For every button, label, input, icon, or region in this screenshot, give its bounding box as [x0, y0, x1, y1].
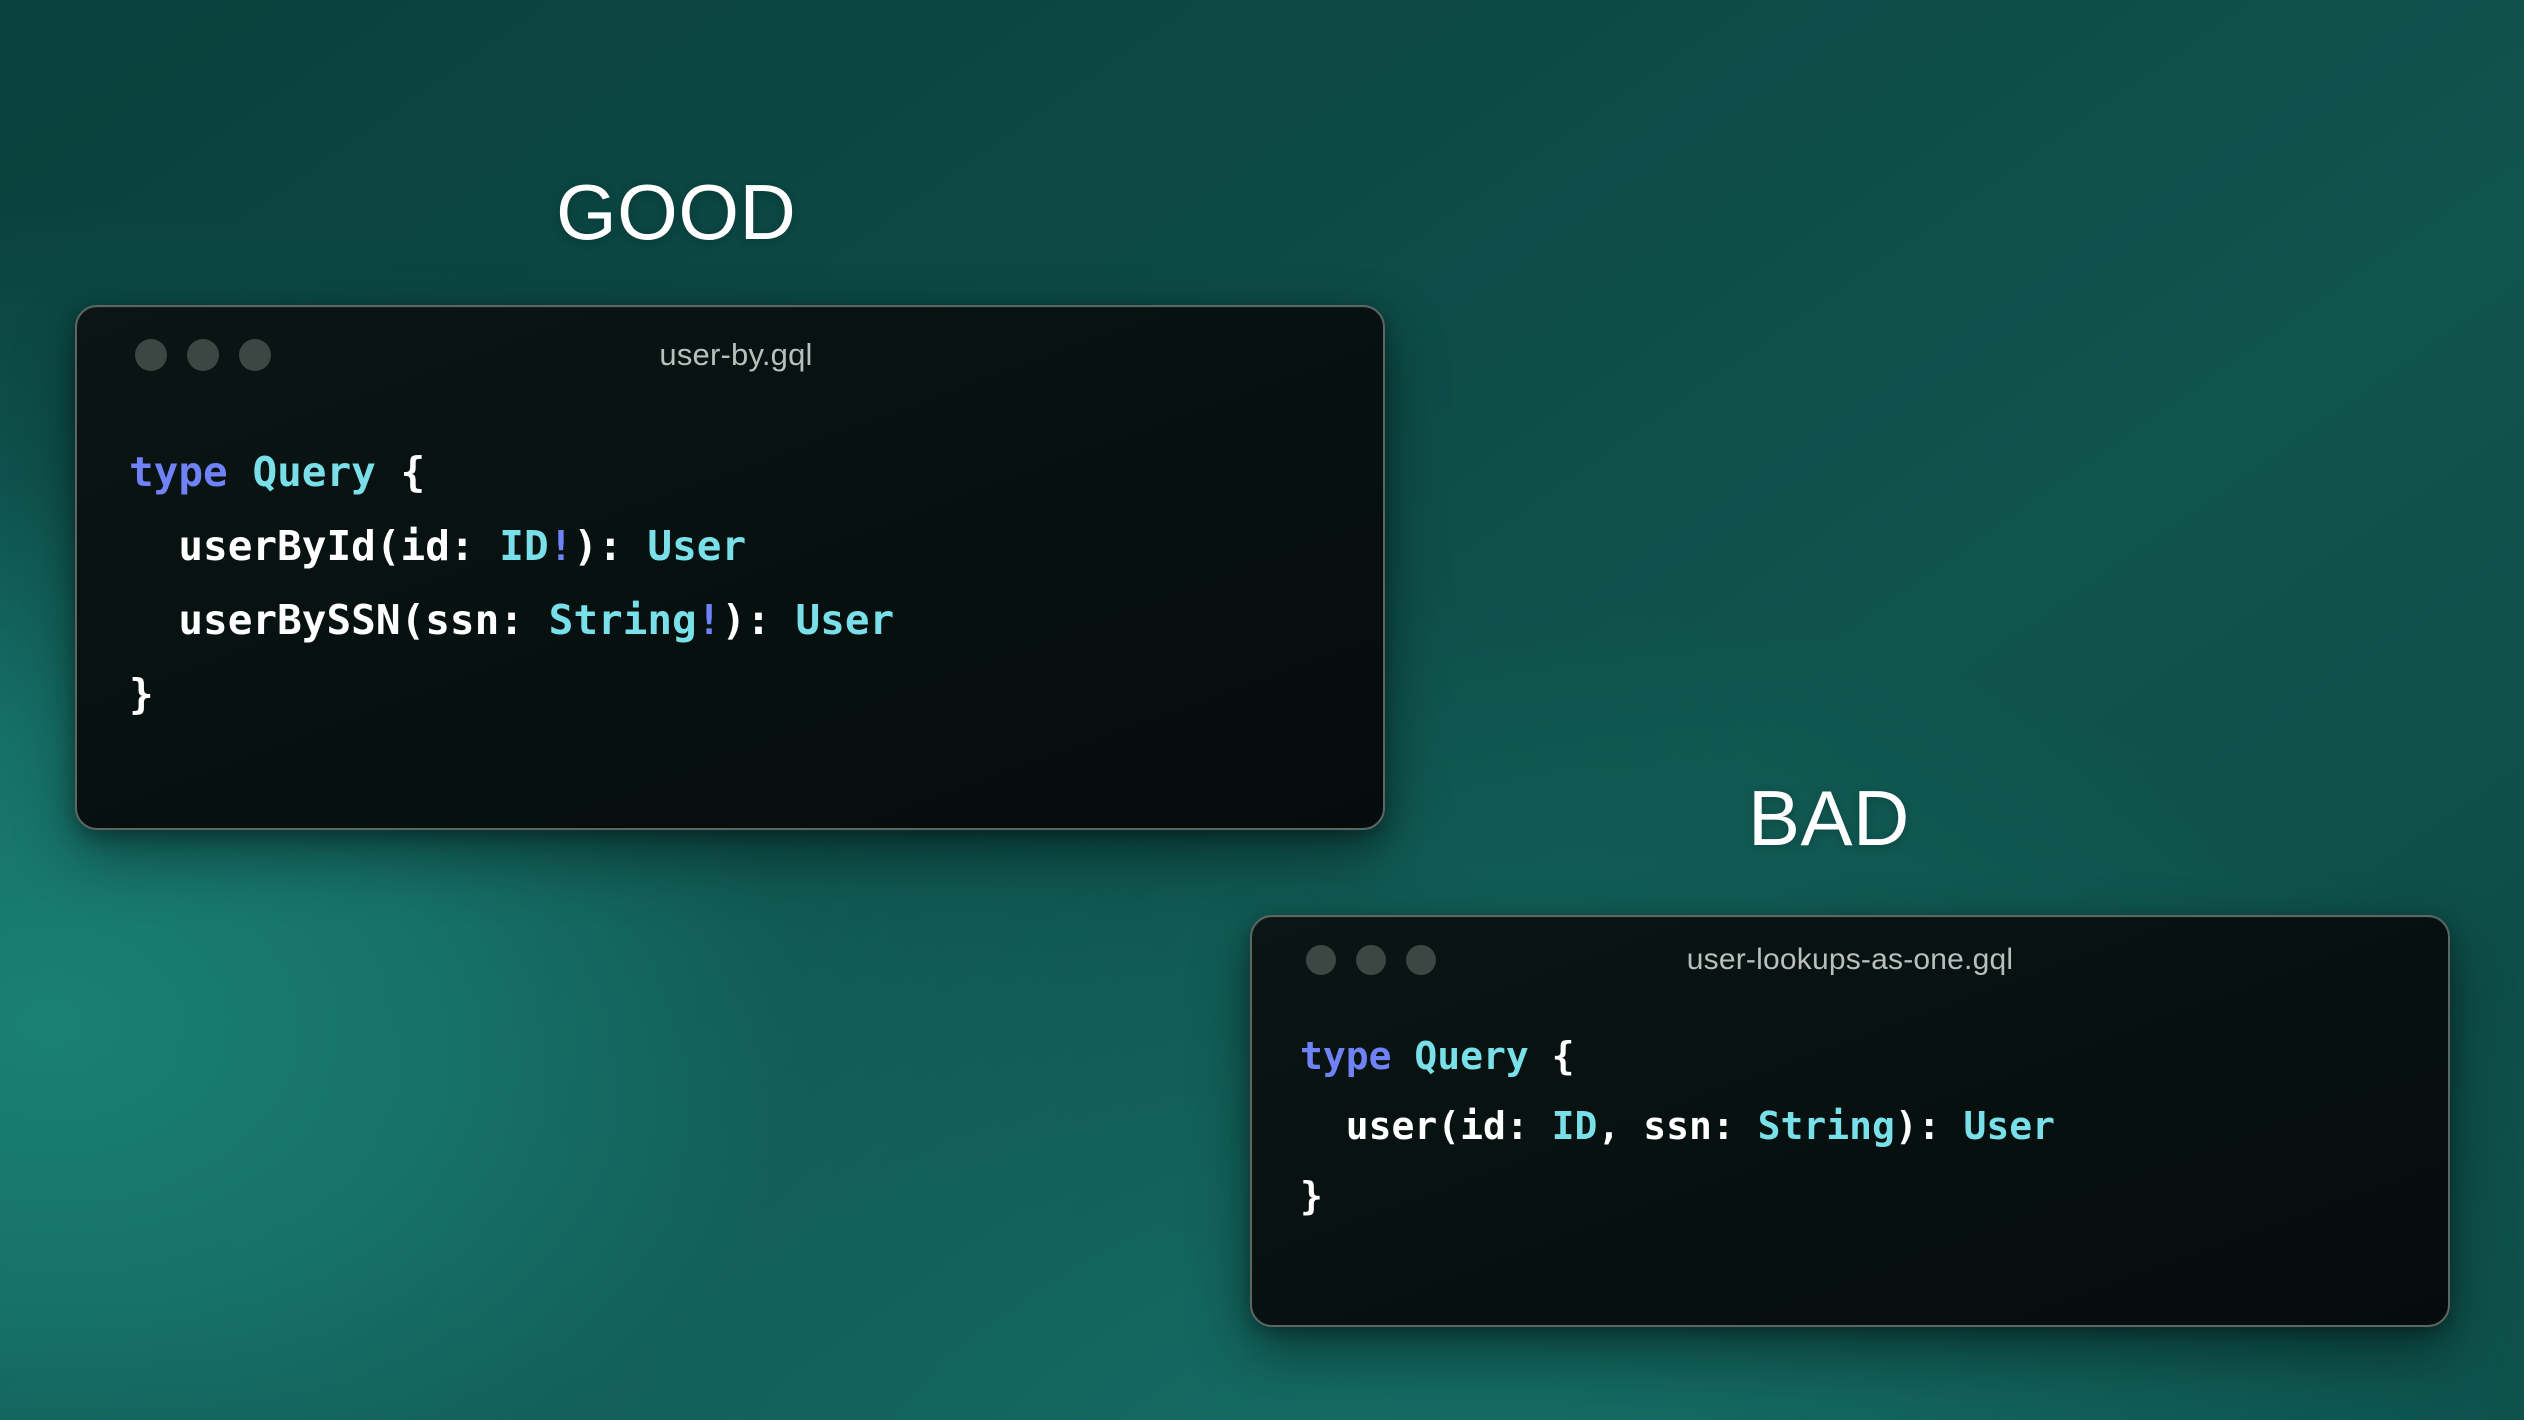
code-block-bad: type Query { user(id: ID, ssn: String): … [1252, 1003, 2448, 1231]
code-field-signature: userById(id: [178, 522, 499, 570]
code-type-id: ID [499, 522, 548, 570]
code-field-userbyid: userById(id: [129, 522, 499, 570]
code-close-brace: } [1300, 1174, 1323, 1218]
code-type-query: Query [252, 448, 375, 496]
code-keyword-type: type [129, 448, 228, 496]
code-type-string: String [1758, 1104, 1895, 1148]
code-close-brace: } [129, 670, 154, 718]
code-indent [129, 522, 178, 570]
good-label: GOOD [556, 168, 796, 256]
code-indent [129, 596, 178, 644]
minimize-dot-icon[interactable] [187, 339, 219, 371]
code-type-string: String [549, 596, 697, 644]
close-dot-icon[interactable] [135, 339, 167, 371]
code-type-query: Query [1414, 1034, 1528, 1078]
bad-label: BAD [1748, 774, 1910, 862]
code-close-paren: ): [1895, 1104, 1964, 1148]
code-return-type-user: User [647, 522, 746, 570]
code-block-good: type Query { userById(id: ID!): User use… [77, 403, 1383, 731]
code-return-type-user: User [1964, 1104, 2056, 1148]
code-open-brace: { [1529, 1034, 1575, 1078]
code-space [228, 448, 253, 496]
code-indent [1300, 1104, 1346, 1148]
titlebar-good: user-by.gql [77, 307, 1383, 403]
code-close-paren: ): [721, 596, 795, 644]
code-close-paren: ): [573, 522, 647, 570]
code-return-type-user: User [796, 596, 895, 644]
maximize-dot-icon[interactable] [239, 339, 271, 371]
close-dot-icon[interactable] [1306, 945, 1336, 975]
code-nonnull-bang: ! [549, 522, 574, 570]
code-space [1392, 1034, 1415, 1078]
code-arg-separator: , ssn: [1597, 1104, 1757, 1148]
code-field-userbyssn: userBySSN(ssn: [129, 596, 549, 644]
code-field-user: user(id: [1300, 1104, 1552, 1148]
code-nonnull-bang: ! [697, 596, 722, 644]
code-open-brace: { [376, 448, 425, 496]
titlebar-bad: user-lookups-as-one.gql [1252, 917, 2448, 1003]
code-field-signature: user(id: [1346, 1104, 1552, 1148]
code-keyword-type: type [1300, 1034, 1392, 1078]
code-window-good: user-by.gql type Query { userById(id: ID… [75, 305, 1385, 830]
minimize-dot-icon[interactable] [1356, 945, 1386, 975]
code-window-bad: user-lookups-as-one.gql type Query { use… [1250, 915, 2450, 1327]
window-controls-bad [1306, 945, 1436, 975]
maximize-dot-icon[interactable] [1406, 945, 1436, 975]
filename-good: user-by.gql [77, 337, 1383, 373]
window-controls-good [135, 339, 271, 371]
comparison-graphic: GOOD user-by.gql type Query { userById(i… [0, 0, 2524, 1420]
code-field-signature: userBySSN(ssn: [178, 596, 548, 644]
code-type-id: ID [1552, 1104, 1598, 1148]
